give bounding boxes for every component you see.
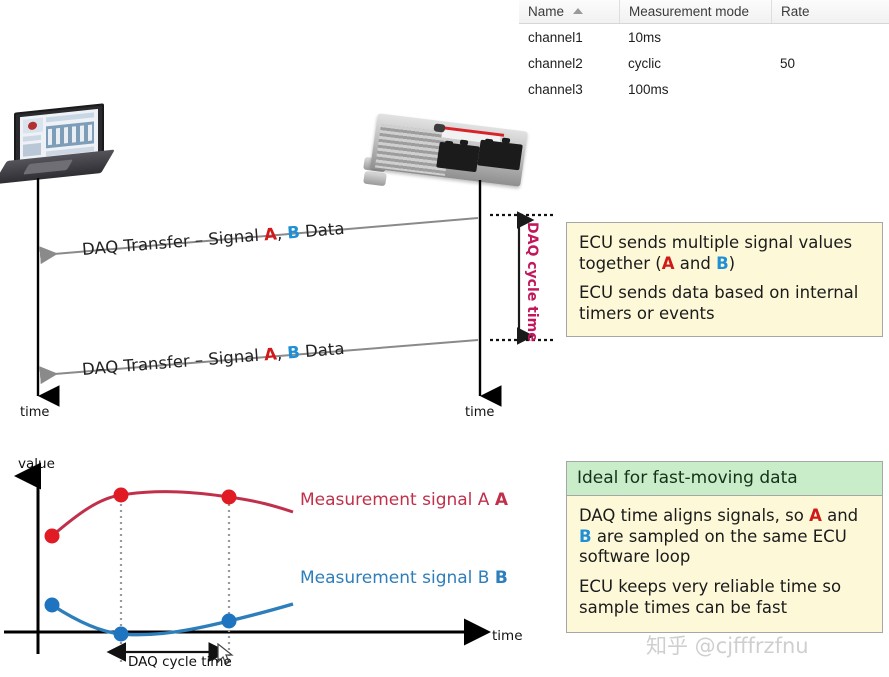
- sort-ascending-icon[interactable]: [573, 8, 583, 14]
- cell-name: channel1: [519, 30, 619, 45]
- callout-ecu-behavior-body: ECU sends multiple signal values togethe…: [567, 223, 882, 335]
- column-header-rate[interactable]: Rate: [771, 0, 887, 23]
- legend-signal-b: Measurement signal B B: [300, 568, 508, 588]
- chart-canvas: [0, 440, 560, 677]
- cell-name: channel3: [519, 82, 619, 97]
- signal-a-letter: A: [662, 254, 675, 273]
- callout-line-1-mid: and: [822, 506, 858, 525]
- cell-rate: 50: [771, 56, 887, 71]
- cell-name: channel2: [519, 56, 619, 71]
- legend-signal-a-letter: A: [495, 490, 508, 510]
- callout-line-2: ECU sends data based on internal timers …: [579, 283, 870, 324]
- column-header-name-label: Name: [528, 4, 564, 19]
- legend-signal-b-letter: B: [495, 568, 508, 588]
- watermark: 知乎 @cjfffrzfnu: [646, 630, 809, 660]
- table-header-row: Name Measurement mode Rate: [519, 0, 889, 24]
- legend-signal-a: Measurement signal A A: [300, 490, 508, 510]
- cell-mode: cyclic: [619, 56, 771, 71]
- callout-fast-moving-data: Ideal for fast-moving data DAQ time alig…: [566, 461, 883, 633]
- column-header-name[interactable]: Name: [519, 0, 619, 23]
- callout-fast-moving-data-header: Ideal for fast-moving data: [567, 462, 882, 496]
- cell-mode: 10ms: [619, 30, 771, 45]
- channel-table[interactable]: Name Measurement mode Rate channel1 10ms…: [519, 0, 889, 102]
- callout-line-1-pre: DAQ time aligns signals, so: [579, 506, 809, 525]
- signal-b-letter: B: [579, 527, 592, 546]
- callout-line-1-mid: and: [675, 254, 717, 273]
- callout-line-1: DAQ time aligns signals, so A and B are …: [579, 506, 870, 568]
- right-time-label: time: [465, 405, 494, 420]
- chart-daq-cycle-time-label: DAQ cycle time: [128, 654, 232, 670]
- callout-line-1-post: are sampled on the same ECU software loo…: [579, 527, 847, 567]
- message-1-suffix: Data: [299, 219, 345, 242]
- signal-chart: value time: [0, 440, 560, 677]
- table-row[interactable]: channel2 cyclic 50: [519, 50, 889, 76]
- legend-signal-a-name: Measurement signal A: [300, 490, 495, 510]
- sequence-diagram: DAQ Transfer – Signal A, B Data DAQ Tran…: [0, 100, 560, 430]
- sequence-lines: [0, 100, 560, 430]
- callout-line-1-post: ): [729, 254, 735, 273]
- daq-cycle-time-label: DAQ cycle time: [524, 222, 540, 342]
- callout-fast-moving-data-body: DAQ time aligns signals, so A and B are …: [567, 496, 882, 628]
- table-row[interactable]: channel3 100ms: [519, 76, 889, 102]
- signal-a-letter: A: [809, 506, 822, 525]
- signal-b-letter: B: [716, 254, 729, 273]
- column-header-measurement-mode[interactable]: Measurement mode: [619, 0, 771, 23]
- cell-mode: 100ms: [619, 82, 771, 97]
- callout-line-1: ECU sends multiple signal values togethe…: [579, 233, 870, 274]
- callout-ecu-behavior: ECU sends multiple signal values togethe…: [566, 222, 883, 337]
- table-row[interactable]: channel1 10ms: [519, 24, 889, 50]
- message-2-suffix: Data: [299, 339, 345, 362]
- callout-line-2: ECU keeps very reliable time so sample t…: [579, 577, 870, 618]
- legend-signal-b-name: Measurement signal B: [300, 568, 495, 588]
- left-time-label: time: [20, 405, 49, 420]
